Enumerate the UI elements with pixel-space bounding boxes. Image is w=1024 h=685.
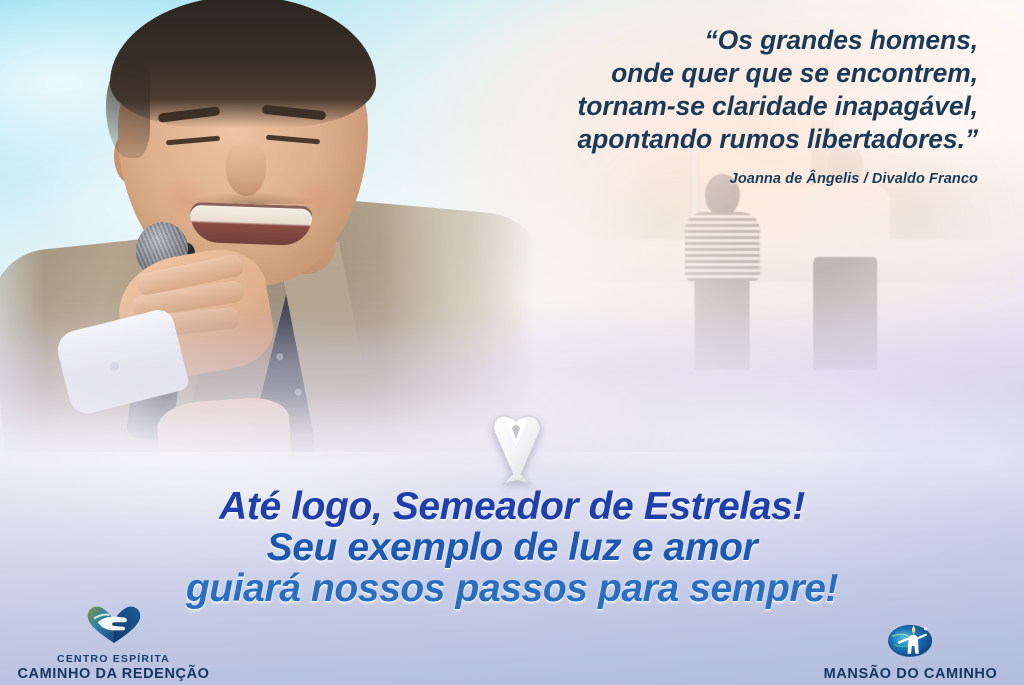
logo-centro-espirita: CENTRO ESPÍRITA CAMINHO DA REDENÇÃO (6, 602, 221, 683)
quote-attribution: Joanna de Ângelis / Divaldo Franco (318, 171, 978, 187)
headline-line-2: Seu exemplo de luz e amor (0, 527, 1024, 568)
hair-sideburn (106, 62, 150, 158)
smiling-mouth (189, 202, 312, 246)
headline-line-1: Até logo, Semeador de Estrelas! (0, 486, 1024, 527)
hands-heart-icon (6, 602, 221, 651)
quote-line-4: apontando rumos libertadores.” (318, 123, 978, 156)
headline-block: Até logo, Semeador de Estrelas! Seu exem… (0, 486, 1024, 609)
quote-block: “Os grandes homens, onde quer que se enc… (318, 24, 978, 156)
logo-left-line-1: CENTRO ESPÍRITA (6, 653, 221, 666)
nose (226, 142, 266, 196)
globe-figure-flame-icon (803, 614, 1018, 664)
memorial-card: “Os grandes homens, onde quer que se enc… (0, 0, 1024, 685)
quote-line-2: onde quer que se encontrem, (318, 57, 978, 90)
logo-right-line-2: MANSÃO DO CAMINHO (803, 666, 1018, 683)
logo-mansao-do-caminho: MANSÃO DO CAMINHO (803, 614, 1018, 683)
quote-line-3: tornam-se claridade inapagável, (318, 90, 978, 123)
person-torso (685, 212, 759, 281)
logo-left-line-2: CAMINHO DA REDENÇÃO (6, 666, 221, 683)
white-mourning-ribbon (483, 406, 549, 488)
wall (560, 240, 1024, 288)
quote-line-1: “Os grandes homens, (318, 24, 978, 57)
person-torso (801, 182, 889, 262)
